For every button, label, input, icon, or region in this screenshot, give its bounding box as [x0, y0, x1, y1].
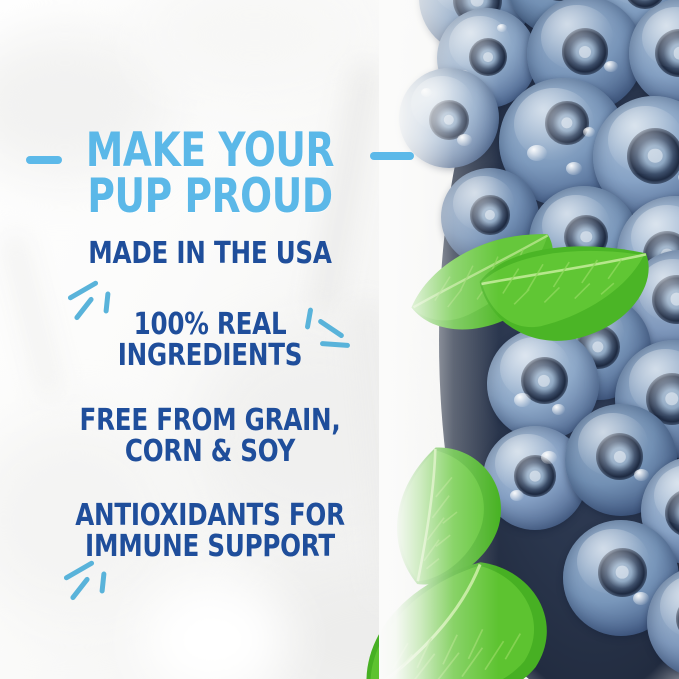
dash-mark-right	[370, 152, 414, 160]
headline: MAKE YOUR PUP PROUD	[42, 128, 378, 219]
blueberry-mint-photo	[379, 0, 679, 679]
headline-line-2: PUP PROUD	[42, 174, 378, 220]
headline-line-1: MAKE YOUR	[42, 128, 378, 174]
graphic-canvas: MAKE YOUR PUP PROUD MADE IN THE USA 100%…	[0, 0, 679, 679]
dash-mark-left	[26, 156, 62, 164]
benefit-line: ANTIOXIDANTS FOR	[38, 500, 382, 531]
benefit-line: CORN & SOY	[38, 436, 382, 467]
benefit-item: MADE IN THE USA	[38, 238, 382, 269]
sparkle-burst-icon	[62, 558, 112, 606]
benefit-item: ANTIOXIDANTS FOR IMMUNE SUPPORT	[38, 500, 382, 562]
benefit-line: FREE FROM GRAIN,	[38, 405, 382, 436]
benefit-item: FREE FROM GRAIN, CORN & SOY	[38, 405, 382, 467]
mint-leaf	[472, 238, 664, 351]
sparkle-burst-icon	[300, 306, 352, 354]
benefit-line: MADE IN THE USA	[38, 238, 382, 269]
sparkle-burst-icon	[66, 278, 116, 326]
benefit-list: MADE IN THE USA 100% REAL INGREDIENTS FR…	[0, 238, 420, 562]
